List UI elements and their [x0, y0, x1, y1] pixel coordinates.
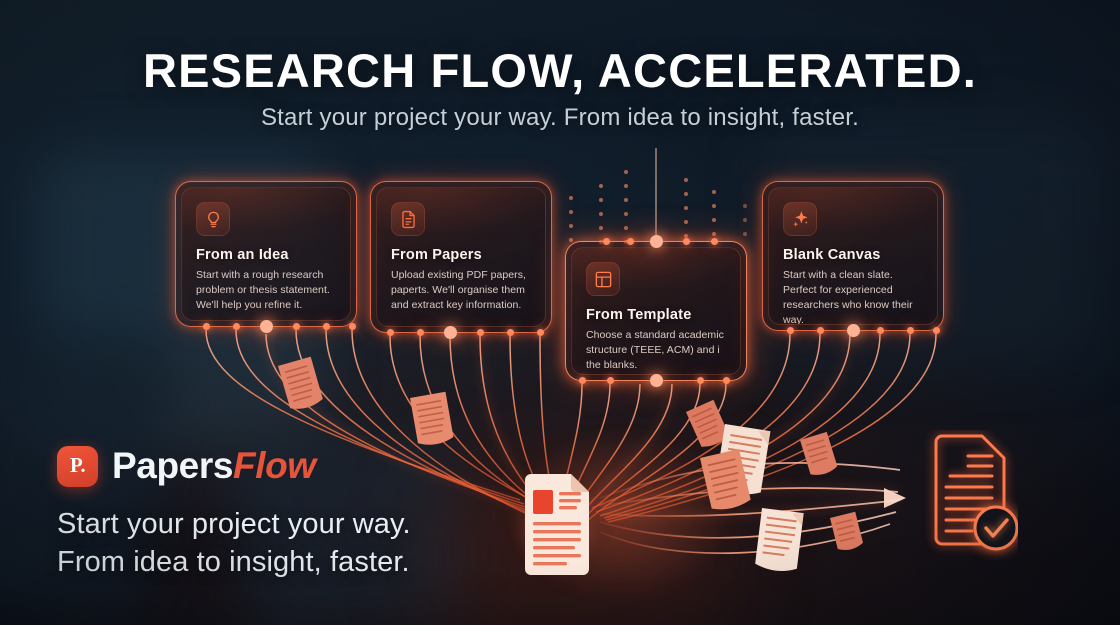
hero-banner: RESEARCH FLOW, ACCELERATED. Start your p… [0, 0, 1120, 625]
vignette-overlay [0, 0, 1120, 625]
